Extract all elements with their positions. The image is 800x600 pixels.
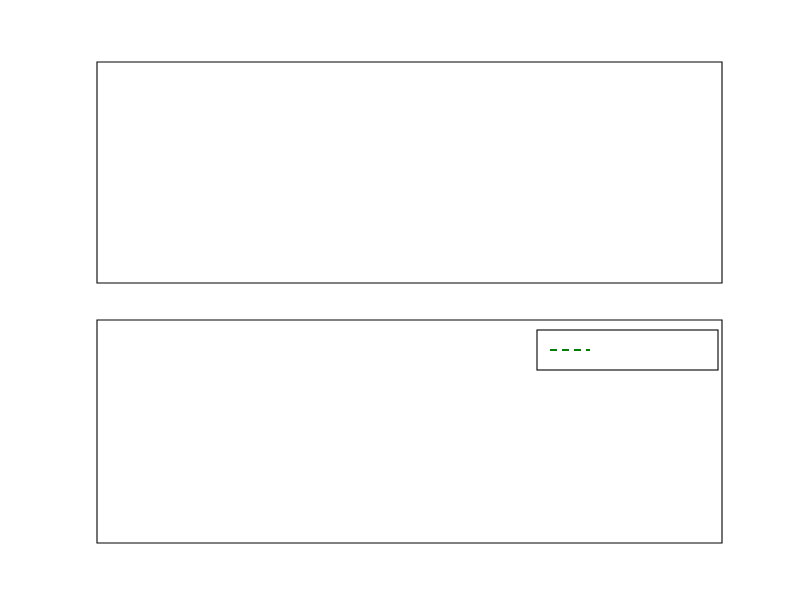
figure-canvas — [0, 0, 800, 600]
figure-background — [0, 0, 800, 600]
legend — [537, 330, 718, 370]
matplotlib-figure — [0, 0, 800, 600]
